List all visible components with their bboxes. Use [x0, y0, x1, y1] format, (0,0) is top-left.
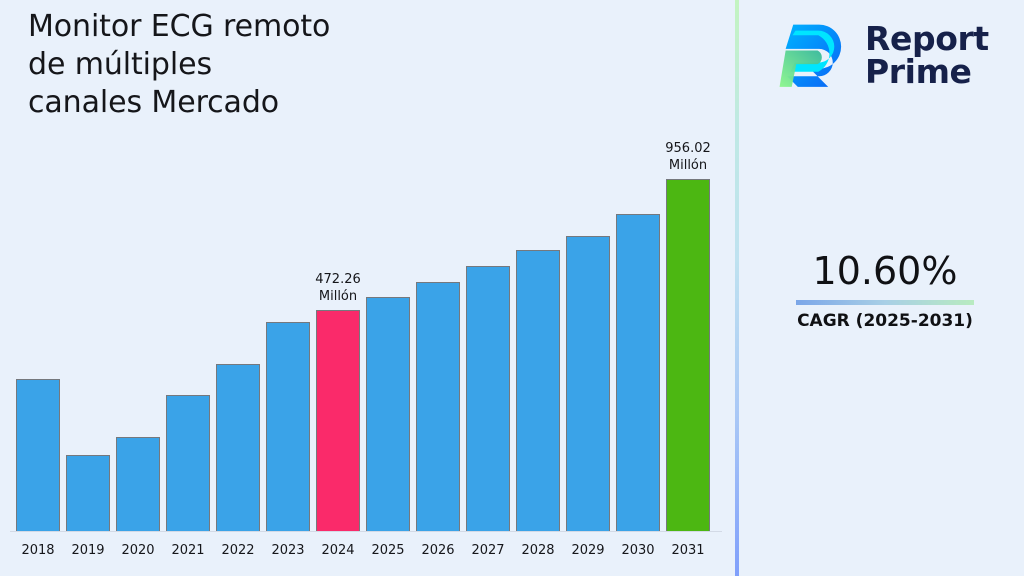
cagr-divider-rule: [796, 300, 974, 305]
page-title: Monitor ECG remoto de múltiples canales …: [28, 8, 628, 122]
bar-2021: [166, 395, 210, 531]
bar-2029: [566, 236, 610, 531]
bar-2020: [116, 437, 160, 531]
x-tick-2031: 2031: [658, 543, 718, 558]
cagr-block: 10.60% CAGR (2025-2031): [756, 248, 1014, 332]
value-label-2031: 956.02 Millón: [638, 140, 738, 174]
report-prime-logo-icon: [775, 17, 851, 93]
bar-2030: [616, 214, 660, 531]
brand-lockup: Report Prime: [775, 12, 1005, 98]
bar-2026: [416, 282, 460, 531]
brand-name: Report Prime: [865, 22, 989, 88]
bar-2019: [66, 455, 110, 531]
bar-chart: Monitor ECG remoto de múltiples canales …: [0, 0, 735, 576]
bar-2018: [16, 379, 60, 531]
cagr-caption: CAGR (2025-2031): [756, 310, 1014, 332]
bar-2027: [466, 266, 510, 531]
bar-2025: [366, 297, 410, 531]
bar-2028: [516, 250, 560, 531]
bar-2022: [216, 364, 260, 531]
cagr-value: 10.60%: [756, 248, 1014, 294]
x-axis-baseline: [10, 531, 722, 532]
infographic-root: Monitor ECG remoto de múltiples canales …: [0, 0, 1024, 576]
bar-2023: [266, 322, 310, 531]
bar-2024: [316, 310, 360, 531]
panel-divider: [735, 0, 739, 576]
bar-2031: [666, 179, 710, 531]
